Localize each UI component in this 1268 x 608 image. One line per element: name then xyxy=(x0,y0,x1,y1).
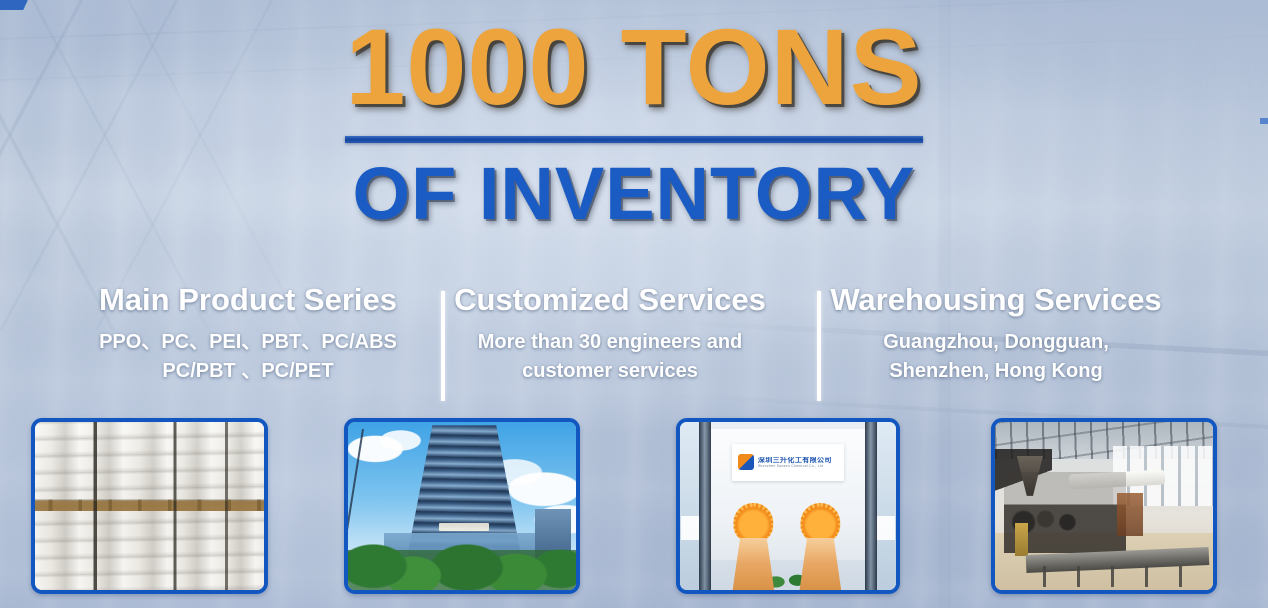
flower-bloom xyxy=(801,503,840,543)
thumbnail-factory-machinery[interactable] xyxy=(991,418,1217,594)
thumbnail-strip: 深圳三升化工有限公司 Shenzhen Sansen Chemical Co.,… xyxy=(0,418,1268,596)
headline-secondary: OF INVENTORY xyxy=(0,155,1268,233)
headline-primary: 1000 TONS xyxy=(0,12,1268,122)
side-placard-left xyxy=(681,516,700,540)
thumbnail-warehouse-pallets[interactable] xyxy=(31,418,268,594)
glass-panel-left xyxy=(680,422,699,590)
door-frame-right xyxy=(865,422,877,590)
flower-arrangement-left xyxy=(725,503,781,590)
feature-title: Warehousing Services xyxy=(814,282,1178,319)
company-signboard: 深圳三升化工有限公司 Shenzhen Sansen Chemical Co.,… xyxy=(732,444,844,481)
feature-line: PPO、PC、PEI、PBT、PC/ABS xyxy=(90,328,406,357)
feature-customized-services: Customized Services More than 30 enginee… xyxy=(420,282,800,386)
feature-detail-lines: Guangzhou, Dongguan, Shenzhen, Hong Kong xyxy=(814,328,1178,386)
company-logo-icon xyxy=(738,454,754,470)
feature-separator-second xyxy=(817,291,821,401)
thumbnail-office-tower[interactable] xyxy=(344,418,580,594)
company-name-english: Shenzhen Sansen Chemical Co., Ltd xyxy=(758,465,832,468)
door-frame-left xyxy=(699,422,711,590)
factory-machinery-photo xyxy=(995,422,1213,590)
street-trees xyxy=(344,526,580,593)
warehouse-pallets-photo xyxy=(35,422,264,590)
company-name-chinese: 深圳三升化工有限公司 xyxy=(758,457,832,464)
company-sign-text: 深圳三升化工有限公司 Shenzhen Sansen Chemical Co.,… xyxy=(758,457,832,468)
feature-line: PC/PBT 、PC/PET xyxy=(90,357,406,386)
feature-columns: Main Product Series PPO、PC、PEI、PBT、PC/AB… xyxy=(0,282,1268,386)
feature-main-product-series: Main Product Series PPO、PC、PEI、PBT、PC/AB… xyxy=(76,282,420,386)
conveyor-supports xyxy=(1043,566,1204,586)
office-tower-photo xyxy=(348,422,576,590)
side-placard-right xyxy=(875,516,894,540)
machine-unit xyxy=(1117,493,1143,537)
feature-warehousing-services: Warehousing Services Guangzhou, Dongguan… xyxy=(800,282,1192,386)
inventory-promo-banner: 1000 TONS OF INVENTORY Main Product Seri… xyxy=(0,0,1268,608)
feature-line: Guangzhou, Dongguan, xyxy=(814,328,1178,357)
headline-block: 1000 TONS OF INVENTORY xyxy=(0,12,1268,233)
feature-line: More than 30 engineers and xyxy=(434,328,786,357)
flower-wrapping xyxy=(733,538,775,590)
feature-title: Customized Services xyxy=(434,282,786,319)
yellow-equipment-box xyxy=(1015,523,1028,557)
banner-content: 1000 TONS OF INVENTORY Main Product Seri… xyxy=(0,0,1268,608)
feature-title: Main Product Series xyxy=(90,282,406,319)
feature-line: Shenzhen, Hong Kong xyxy=(814,357,1178,386)
feature-line: customer services xyxy=(434,357,786,386)
flower-arrangement-right xyxy=(792,503,848,590)
thumbnail-company-reception[interactable]: 深圳三升化工有限公司 Shenzhen Sansen Chemical Co.,… xyxy=(676,418,900,594)
feature-detail-lines: More than 30 engineers and customer serv… xyxy=(434,328,786,386)
headline-divider-rule xyxy=(345,136,923,143)
flower-wrapping xyxy=(800,538,842,590)
feature-detail-lines: PPO、PC、PEI、PBT、PC/ABS PC/PBT 、PC/PET xyxy=(90,328,406,386)
feature-separator-first xyxy=(441,291,445,401)
glass-panel-right xyxy=(877,422,896,590)
flower-bloom xyxy=(734,503,773,543)
company-reception-photo: 深圳三升化工有限公司 Shenzhen Sansen Chemical Co.,… xyxy=(680,422,896,590)
